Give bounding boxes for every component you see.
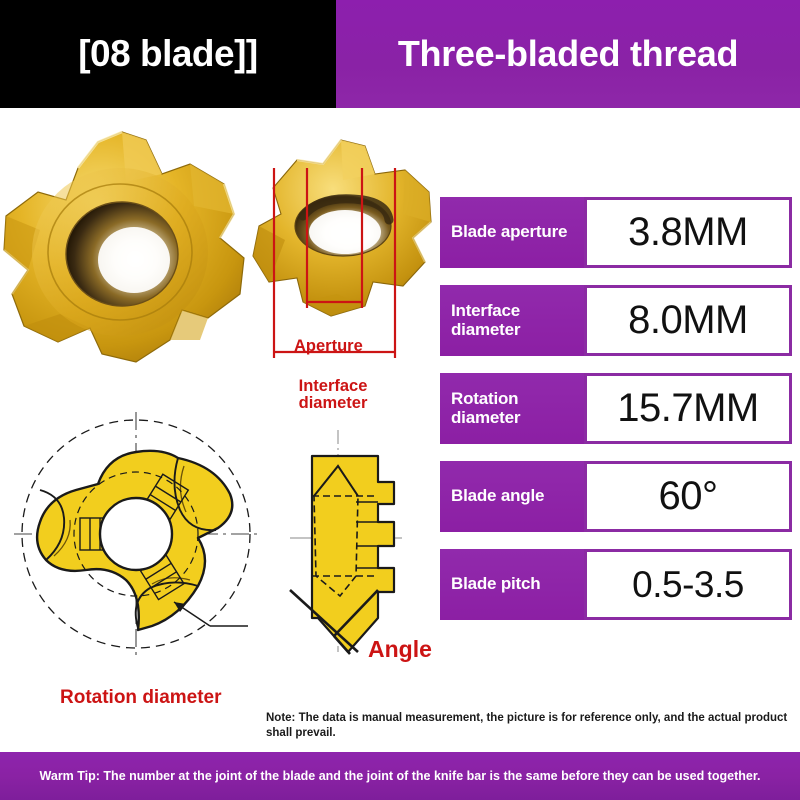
spec-label-rotation-diameter: Rotation diameter — [440, 373, 584, 444]
spec-label-interface-diameter: Interface diameter — [440, 285, 584, 356]
spec-value-interface-diameter: 8.0MM — [584, 285, 792, 356]
spec-label-interface-diameter-line1: Interface — [451, 301, 520, 320]
spec-row-interface-diameter: Interface diameter 8.0MM — [440, 285, 792, 356]
spec-value-blade-angle: 60° — [584, 461, 792, 532]
warm-tip-banner: Warm Tip: The number at the joint of the… — [0, 752, 800, 800]
spec-label-blade-aperture: Blade aperture — [440, 197, 584, 268]
spec-value-blade-aperture: 3.8MM — [584, 197, 792, 268]
annotation-aperture: Aperture — [294, 338, 363, 355]
header-badge-label: [08 blade]] — [78, 33, 258, 75]
page-title: Three-bladed thread — [398, 33, 738, 75]
drawing-front-view — [2, 410, 264, 662]
page-header: [08 blade]] Three-bladed thread — [0, 0, 800, 108]
product-photo-area — [0, 108, 436, 398]
spec-value-rotation-diameter: 15.7MM — [584, 373, 792, 444]
spec-row-blade-angle: Blade angle 60° — [440, 461, 792, 532]
spec-label-blade-angle: Blade angle — [440, 461, 584, 532]
drawing-side-view — [282, 426, 442, 656]
annotation-interface-diameter-line1: Interface — [299, 377, 368, 395]
header-badge-black: [08 blade]] — [0, 0, 336, 108]
spec-row-rotation-diameter: Rotation diameter 15.7MM — [440, 373, 792, 444]
spec-label-rotation-diameter-line1: Rotation — [451, 389, 518, 408]
spec-label-interface-diameter-line2: diameter — [451, 320, 520, 339]
spec-label-blade-pitch: Blade pitch — [440, 549, 584, 620]
product-photo-insert-front — [0, 126, 246, 376]
disclaimer-note: Note: The data is manual measurement, th… — [266, 711, 790, 741]
annotation-angle: Angle — [368, 637, 432, 661]
spec-row-blade-pitch: Blade pitch 0.5-3.5 — [440, 549, 792, 620]
product-spec-page: [08 blade]] Three-bladed thread — [0, 0, 800, 800]
spec-row-blade-aperture: Blade aperture 3.8MM — [440, 197, 792, 268]
product-photo-insert-tilted — [245, 130, 445, 340]
annotation-rotation-diameter: Rotation diameter — [60, 688, 222, 708]
spec-label-rotation-diameter-line2: diameter — [451, 408, 520, 427]
spec-value-blade-pitch: 0.5-3.5 — [584, 549, 792, 620]
header-title-purple: Three-bladed thread — [336, 0, 800, 108]
specification-table: Blade aperture 3.8MM Interface diameter … — [440, 197, 792, 620]
